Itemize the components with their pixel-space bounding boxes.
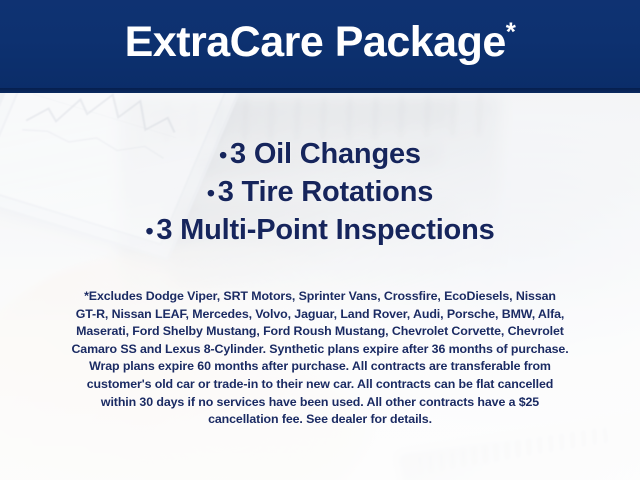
extracare-package-ad: ExtraCare Package* •3 Oil Changes •3 Tir… — [0, 0, 640, 480]
benefits-list: •3 Oil Changes •3 Tire Rotations •3 Mult… — [0, 136, 640, 250]
list-item: •3 Oil Changes — [0, 136, 640, 174]
list-item-label: 3 Multi-Point Inspections — [156, 214, 494, 246]
list-item: •3 Multi-Point Inspections — [0, 212, 640, 250]
header-band: ExtraCare Package* — [0, 0, 640, 88]
disclaimer-text: *Excludes Dodge Viper, SRT Motors, Sprin… — [36, 288, 604, 429]
bullet-icon: • — [219, 142, 230, 168]
disclaimer-line: *Excludes Dodge Viper, SRT Motors, Sprin… — [36, 288, 604, 306]
bullet-icon: • — [145, 218, 156, 244]
disclaimer-line: Wrap plans expire 60 months after purcha… — [36, 358, 604, 376]
page-title-asterisk: * — [506, 17, 516, 47]
disclaimer-line: GT-R, Nissan LEAF, Mercedes, Volvo, Jagu… — [36, 306, 604, 324]
header-divider — [0, 88, 640, 93]
list-item-label: 3 Tire Rotations — [218, 176, 433, 208]
list-item-label: 3 Oil Changes — [230, 138, 421, 170]
disclaimer-line: Maserati, Ford Shelby Mustang, Ford Rous… — [36, 323, 604, 341]
disclaimer-line: customer's old car or trade-in to their … — [36, 376, 604, 394]
list-item: •3 Tire Rotations — [0, 174, 640, 212]
disclaimer-line: cancellation fee. See dealer for details… — [36, 411, 604, 429]
disclaimer-line: Camaro SS and Lexus 8-Cylinder. Syntheti… — [36, 341, 604, 359]
bullet-icon: • — [207, 180, 218, 206]
disclaimer-line: within 30 days if no services have been … — [36, 394, 604, 412]
page-title: ExtraCare Package* — [125, 21, 516, 67]
page-title-text: ExtraCare Package — [125, 18, 506, 66]
